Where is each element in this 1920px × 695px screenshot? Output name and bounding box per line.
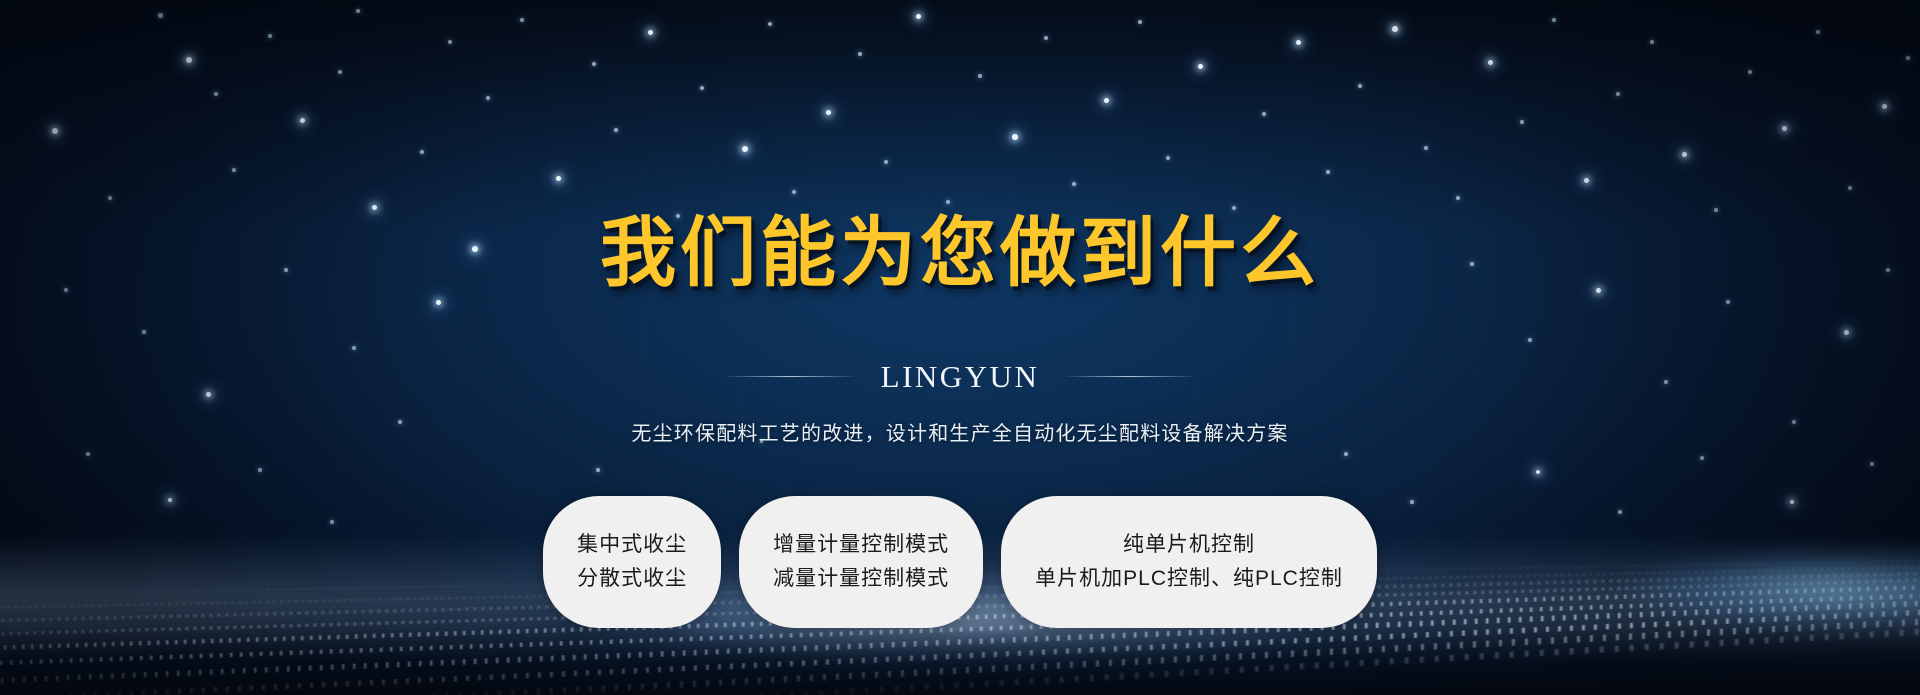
feature-pill-weighing-mode[interactable]: 增量计量控制模式 减量计量控制模式 bbox=[739, 496, 983, 628]
pill-line: 增量计量控制模式 bbox=[773, 533, 949, 557]
divider-left bbox=[727, 376, 855, 377]
hero-banner: 我们能为您做到什么 LINGYUN 无尘环保配料工艺的改进，设计和生产全自动化无… bbox=[0, 0, 1920, 695]
divider-right bbox=[1065, 376, 1193, 377]
subtitle-row: LINGYUN bbox=[727, 359, 1194, 395]
banner-content: 我们能为您做到什么 LINGYUN 无尘环保配料工艺的改进，设计和生产全自动化无… bbox=[0, 0, 1920, 695]
pill-line: 分散式收尘 bbox=[577, 567, 687, 591]
feature-pill-dust-collection[interactable]: 集中式收尘 分散式收尘 bbox=[543, 496, 721, 628]
feature-pill-control-system[interactable]: 纯单片机控制 单片机加PLC控制、纯PLC控制 bbox=[1001, 496, 1377, 628]
brand-subtitle: LINGYUN bbox=[881, 359, 1040, 395]
pill-line: 纯单片机控制 bbox=[1123, 533, 1255, 557]
description-text: 无尘环保配料工艺的改进，设计和生产全自动化无尘配料设备解决方案 bbox=[631, 417, 1288, 446]
pill-line: 单片机加PLC控制、纯PLC控制 bbox=[1035, 567, 1343, 591]
pill-line: 集中式收尘 bbox=[577, 533, 687, 557]
page-title: 我们能为您做到什么 bbox=[600, 216, 1320, 292]
feature-pill-list: 集中式收尘 分散式收尘 增量计量控制模式 减量计量控制模式 纯单片机控制 单片机… bbox=[543, 496, 1377, 628]
pill-line: 减量计量控制模式 bbox=[773, 567, 949, 591]
